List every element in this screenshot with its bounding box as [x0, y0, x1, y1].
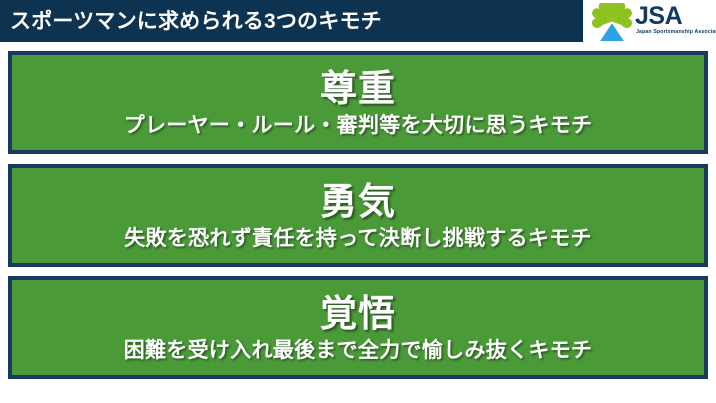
clover-icon [590, 3, 634, 41]
logo-subtitle: Japan Sportsmanship Association [636, 30, 716, 35]
jsa-logo: JSA Japan Sportsmanship Association [590, 2, 712, 42]
value-description: プレーヤー・ルール・審判等を大切に思うキモチ [124, 114, 593, 137]
values-list: 尊重 プレーヤー・ルール・審判等を大切に思うキモチ 勇気 失敗を恐れず責任を持っ… [0, 43, 716, 403]
value-description: 失敗を恐れず責任を持って決断し挑戦するキモチ [124, 227, 592, 250]
logo-text: JSA Japan Sportsmanship Association [635, 3, 711, 41]
header-title-bar: スポーツマンに求められる3つのキモチ [0, 0, 583, 42]
value-title: 勇気 [320, 183, 396, 222]
value-box-courage: 勇気 失敗を恐れず責任を持って決断し挑戦するキモチ [8, 164, 708, 267]
value-description: 困難を受け入れ最後まで全力で愉しみ抜くキモチ [124, 339, 593, 362]
value-title: 尊重 [320, 70, 396, 109]
value-title: 覚悟 [320, 295, 396, 334]
logo-wordmark: JSA [635, 4, 682, 29]
page-title: スポーツマンに求められる3つのキモチ [0, 11, 382, 32]
value-box-respect: 尊重 プレーヤー・ルール・審判等を大切に思うキモチ [8, 51, 708, 154]
page-header: スポーツマンに求められる3つのキモチ JSA Japan Sportsmansh… [0, 0, 716, 43]
value-box-resolve: 覚悟 困難を受け入れ最後まで全力で愉しみ抜くキモチ [8, 276, 708, 379]
